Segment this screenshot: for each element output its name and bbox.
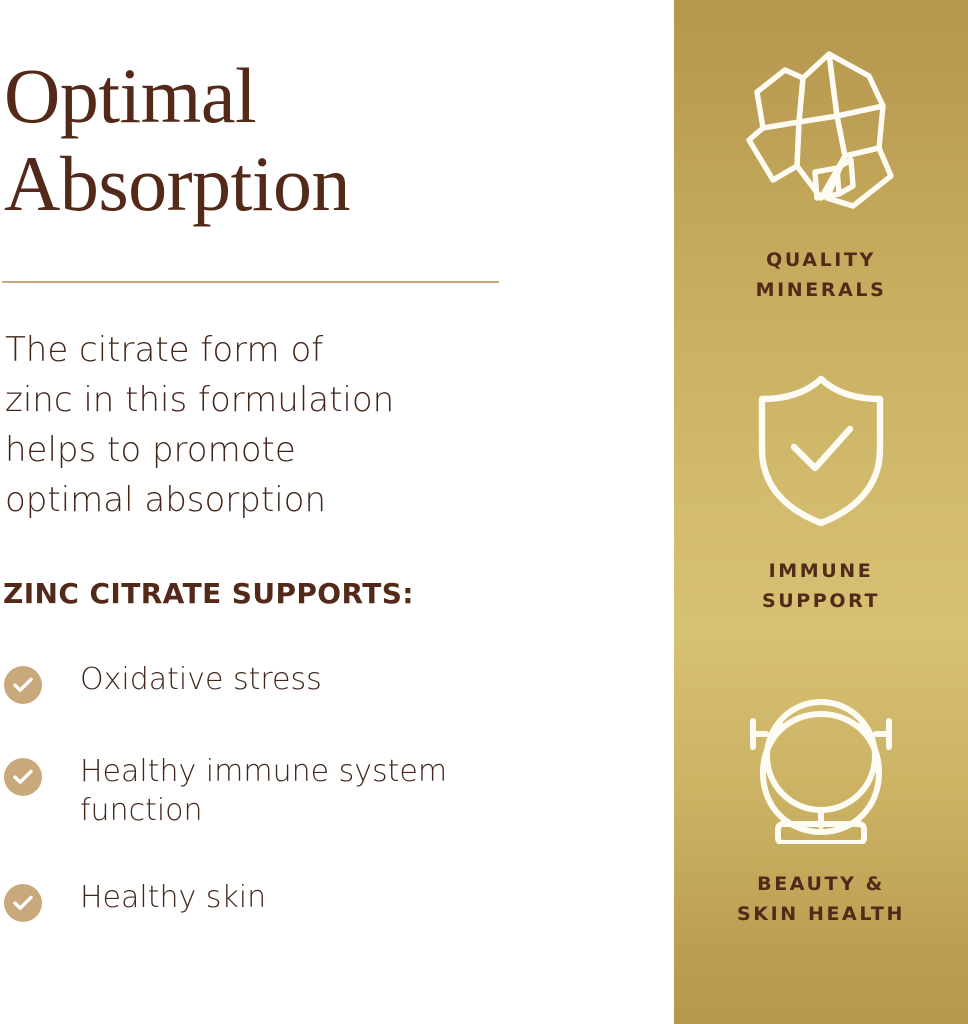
intro-line-2: zinc in this formulation (5, 375, 645, 425)
list-item-label: Oxidative stress (80, 660, 322, 699)
feature-immune-support: IMMUNE SUPPORT (674, 371, 968, 616)
check-circle-icon (4, 758, 42, 796)
feature-label: QUALITY MINERALS (756, 245, 887, 305)
feature-label-line-2: SUPPORT (762, 586, 880, 616)
check-circle-icon (4, 666, 42, 704)
feature-label-line-2: MINERALS (756, 275, 887, 305)
intro-paragraph: The citrate form of zinc in this formula… (5, 325, 645, 525)
title-divider-rule (2, 281, 499, 283)
feature-label-line-1: BEAUTY & (737, 869, 905, 899)
feature-label-line-1: IMMUNE (762, 556, 880, 586)
shield-check-icon (746, 371, 896, 536)
list-item: Oxidative stress (4, 660, 644, 704)
intro-line-4: optimal absorption (5, 475, 645, 525)
list-item-label: Healthy immune system function (80, 752, 560, 830)
intro-line-3: helps to promote (5, 425, 645, 475)
page-title-line-2: Absorption (4, 140, 624, 228)
feature-label: BEAUTY & SKIN HEALTH (737, 869, 905, 929)
feature-sidebar: QUALITY MINERALS IMMUNE SUPPORT (674, 0, 968, 1024)
page-title-line-1: Optimal (4, 52, 624, 140)
feature-quality-minerals: QUALITY MINERALS (674, 48, 968, 305)
left-content-panel: Optimal Absorption The citrate form of z… (0, 0, 674, 1024)
check-circle-icon (4, 884, 42, 922)
feature-label-line-2: SKIN HEALTH (737, 899, 905, 929)
supports-heading: ZINC CITRATE SUPPORTS: (3, 577, 414, 611)
product-benefits-infographic: Optimal Absorption The citrate form of z… (0, 0, 968, 1024)
list-item: Healthy immune system function (4, 752, 644, 830)
feature-label: IMMUNE SUPPORT (762, 556, 880, 616)
feature-beauty-skin-health: BEAUTY & SKIN HEALTH (674, 674, 968, 929)
page-title: Optimal Absorption (4, 52, 624, 228)
crystal-minerals-icon (741, 48, 901, 225)
intro-line-1: The citrate form of (5, 325, 645, 375)
list-item: Healthy skin (4, 878, 644, 922)
list-item-label: Healthy skin (80, 878, 266, 917)
feature-label-line-1: QUALITY (756, 245, 887, 275)
vanity-mirror-icon (736, 674, 906, 849)
supports-list: Oxidative stress Healthy immune system f… (4, 660, 644, 922)
